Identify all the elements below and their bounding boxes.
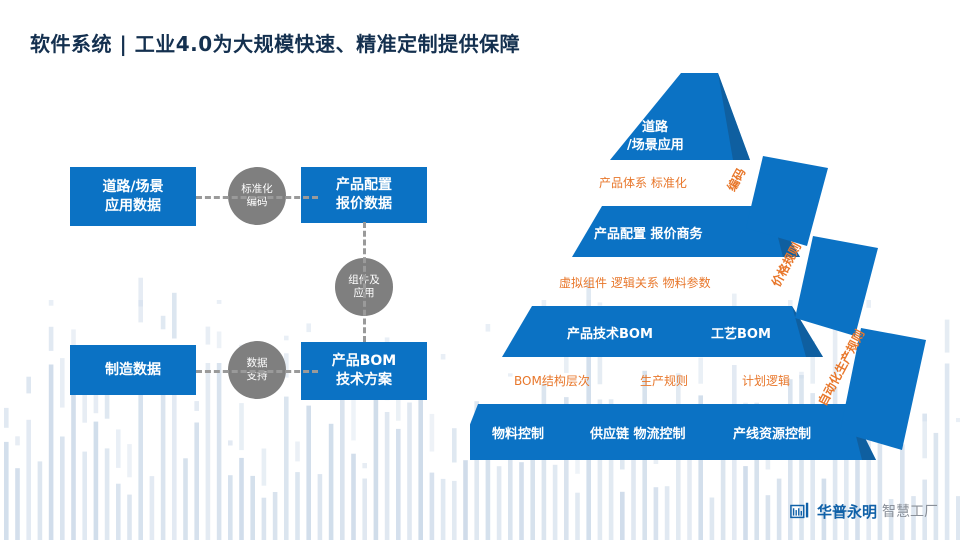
slide-canvas: 软件系统 | 工业4.0为大规模快速、精准定制提供保障 道路/场景 应用数据 产… [0,0,960,540]
pyramid-tier-4-label-c: 产线资源控制 [733,423,811,442]
flow-box-line2: 技术方案 [332,371,397,390]
connector-line-top [196,196,318,199]
pyramid-tier-3-label-a: 产品技术BOM [567,323,653,342]
pyramid-note-2: 虚拟组件 逻辑关系 物料参数 [559,274,711,291]
circle-line1: 数据 [247,357,268,370]
flow-box-line2: 报价数据 [336,195,392,214]
pyramid-tier-4-label-b: 供应链 物流控制 [590,423,686,442]
brand-logo: 华普永明 智慧工厂 [790,500,938,522]
flow-box-line1: 产品BOM [332,352,397,371]
pyramid-note-3b: 生产规则 [640,372,688,389]
pyramid-note-3a: BOM结构层次 [514,372,590,389]
flow-box-line1: 道路/场景 [102,178,163,197]
pyramid-note-3c: 计划逻辑 [742,372,790,389]
pyramid-tier-4-label-a: 物料控制 [492,423,544,442]
pyramid-tier-1-label-line2: /场景应用 [627,134,684,153]
pyramid-tier-1-label-line1: 道路 [642,116,668,135]
flow-box-line1: 制造数据 [105,361,161,380]
pyramid-tier-3-label-b: 工艺BOM [711,323,771,342]
flow-box-line1: 产品配置 [336,176,392,195]
logo-mark-icon [790,500,812,522]
circle-line1: 标准化 [241,183,273,196]
flow-box-product-config-quote[interactable]: 产品配置 报价数据 [301,167,427,223]
logo-sub-text: 智慧工厂 [882,501,938,521]
pyramid-tier-3-front[interactable] [502,306,823,357]
logo-brand-text: 华普永明 [817,501,877,522]
flow-box-manufacturing-data[interactable]: 制造数据 [70,345,196,395]
page-title: 软件系统 | 工业4.0为大规模快速、精准定制提供保障 [30,28,520,57]
connector-line-bottom [196,370,318,373]
flow-box-product-bom-tech[interactable]: 产品BOM 技术方案 [301,342,427,400]
pyramid-diagram: 道路 /场景应用 产品配置 报价商务 产品技术BOM 工艺BOM 物料控制 供应… [470,60,960,490]
flow-box-road-scene-data[interactable]: 道路/场景 应用数据 [70,167,196,226]
left-flow-diagram: 道路/场景 应用数据 产品配置 报价数据 制造数据 产品BOM 技术方案 标准化… [0,0,470,540]
flow-box-line2: 应用数据 [102,197,163,216]
pyramid-note-1: 产品体系 标准化 [599,174,687,191]
side-panel-price-rule[interactable] [795,236,878,336]
pyramid-tier-2-label: 产品配置 报价商务 [594,223,703,242]
connector-line-right [363,222,366,342]
